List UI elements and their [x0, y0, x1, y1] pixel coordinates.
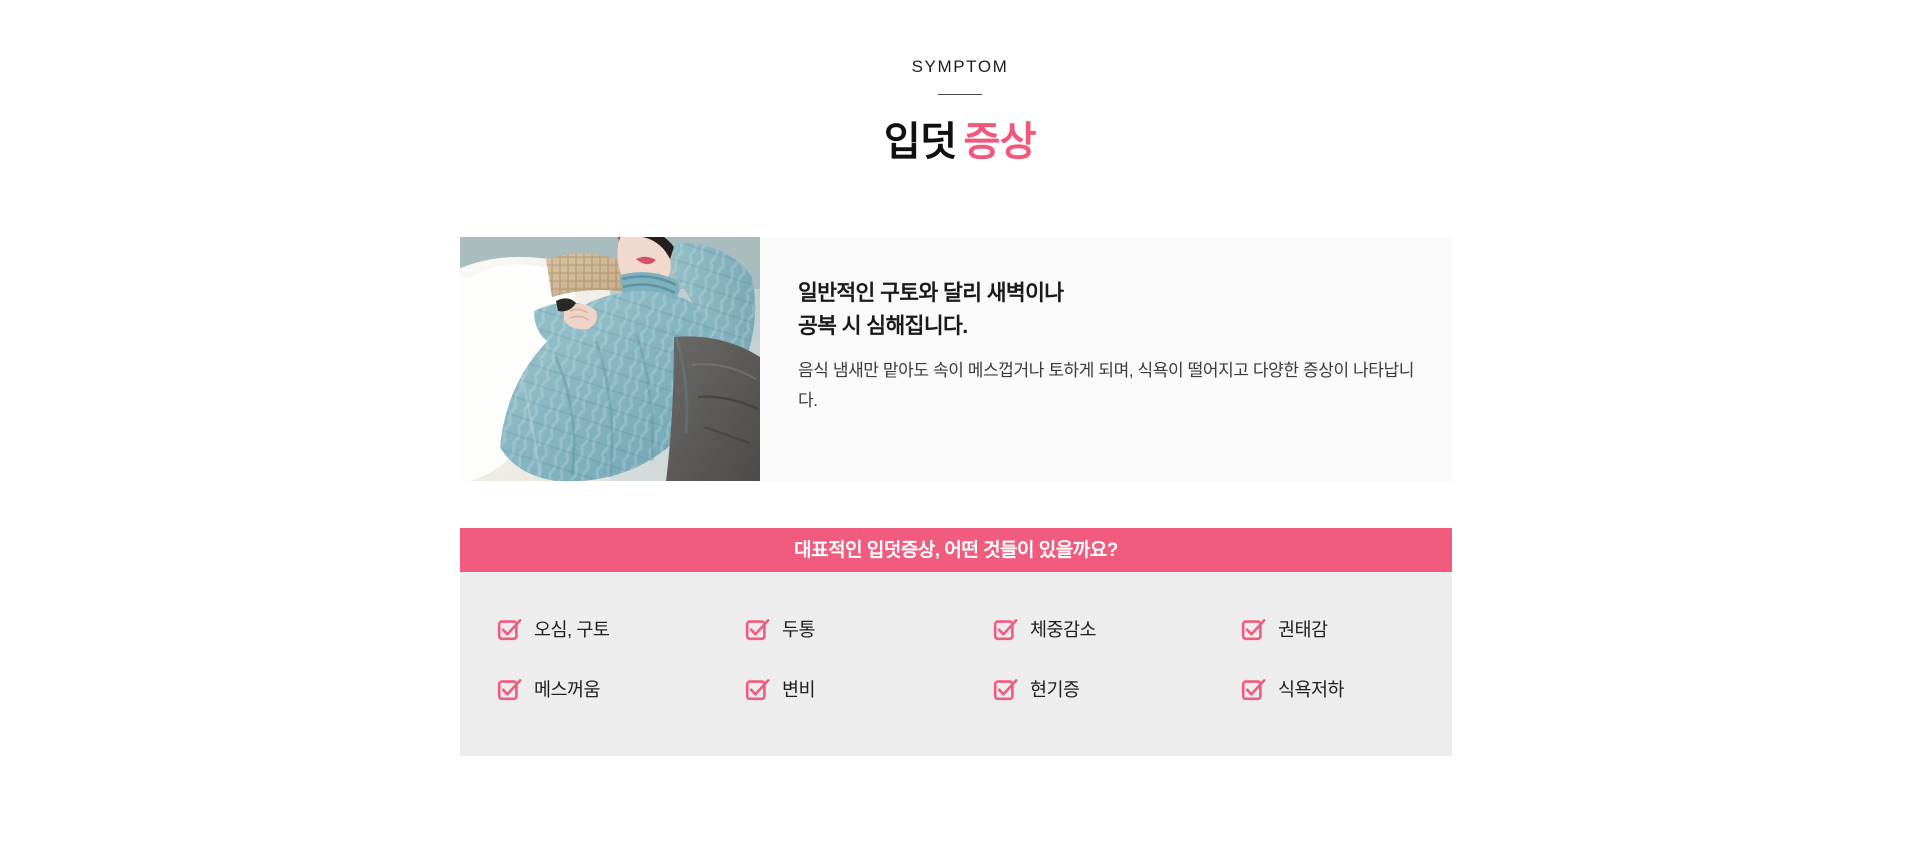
- checkbox-checked-icon: [745, 617, 771, 643]
- checklist-item[interactable]: 체중감소: [956, 617, 1204, 643]
- checklist-item[interactable]: 변비: [708, 677, 956, 703]
- page-title-primary: 입덧: [884, 120, 957, 164]
- heading-divider: [938, 94, 982, 95]
- checklist-item-label: 오심, 구토: [534, 621, 609, 640]
- checkbox-checked-icon: [993, 617, 1019, 643]
- checklist-item-label: 변비: [782, 681, 815, 700]
- checklist-header-bar: 대표적인 입덧증상, 어떤 것들이 있을까요?: [460, 528, 1452, 572]
- checklist-item-label: 권태감: [1278, 621, 1328, 640]
- info-card: 일반적인 구토와 달리 새벽이나 공복 시 심해집니다. 음식 냄새만 맡아도 …: [460, 237, 1452, 481]
- checklist-item[interactable]: 권태감: [1204, 617, 1452, 643]
- checkbox-checked-icon: [1241, 677, 1267, 703]
- checkbox-checked-icon: [993, 677, 1019, 703]
- info-card-text: 일반적인 구토와 달리 새벽이나 공복 시 심해집니다. 음식 냄새만 맡아도 …: [760, 237, 1452, 481]
- checklist-item-label: 두통: [782, 621, 815, 640]
- checkbox-checked-icon: [497, 677, 523, 703]
- checkbox-checked-icon: [745, 677, 771, 703]
- checklist-header-title: 대표적인 입덧증상, 어떤 것들이 있을까요?: [794, 541, 1118, 560]
- checklist-item[interactable]: 식욕저하: [1204, 677, 1452, 703]
- checklist-item-label: 체중감소: [1030, 621, 1096, 640]
- checklist-item-label: 메스꺼움: [534, 681, 600, 700]
- info-card-title: 일반적인 구토와 달리 새벽이나 공복 시 심해집니다.: [798, 277, 1414, 342]
- checklist-grid: 오심, 구토 두통 체중감소: [460, 572, 1452, 756]
- checklist-item[interactable]: 현기증: [956, 677, 1204, 703]
- checklist-item[interactable]: 오심, 구토: [460, 617, 708, 643]
- symptom-checklist: 대표적인 입덧증상, 어떤 것들이 있을까요? 오심, 구토 두통: [460, 528, 1452, 756]
- checkbox-checked-icon: [1241, 617, 1267, 643]
- checklist-item[interactable]: 두통: [708, 617, 956, 643]
- page-title-accent: 증상: [964, 120, 1037, 164]
- checklist-item-label: 현기증: [1030, 681, 1080, 700]
- checklist-item-label: 식욕저하: [1278, 681, 1344, 700]
- checkbox-checked-icon: [497, 617, 523, 643]
- info-card-body: 음식 냄새만 맡아도 속이 메스껍거나 토하게 되며, 식욕이 떨어지고 다양한…: [798, 356, 1414, 414]
- section-heading: SYMPTOM 입덧증상: [0, 58, 1920, 167]
- section-eyebrow: SYMPTOM: [0, 58, 1920, 75]
- symptom-section-page: SYMPTOM 입덧증상: [0, 0, 1920, 853]
- symptom-photo: [460, 237, 760, 481]
- page-title: 입덧증상: [0, 117, 1920, 167]
- checklist-item[interactable]: 메스꺼움: [460, 677, 708, 703]
